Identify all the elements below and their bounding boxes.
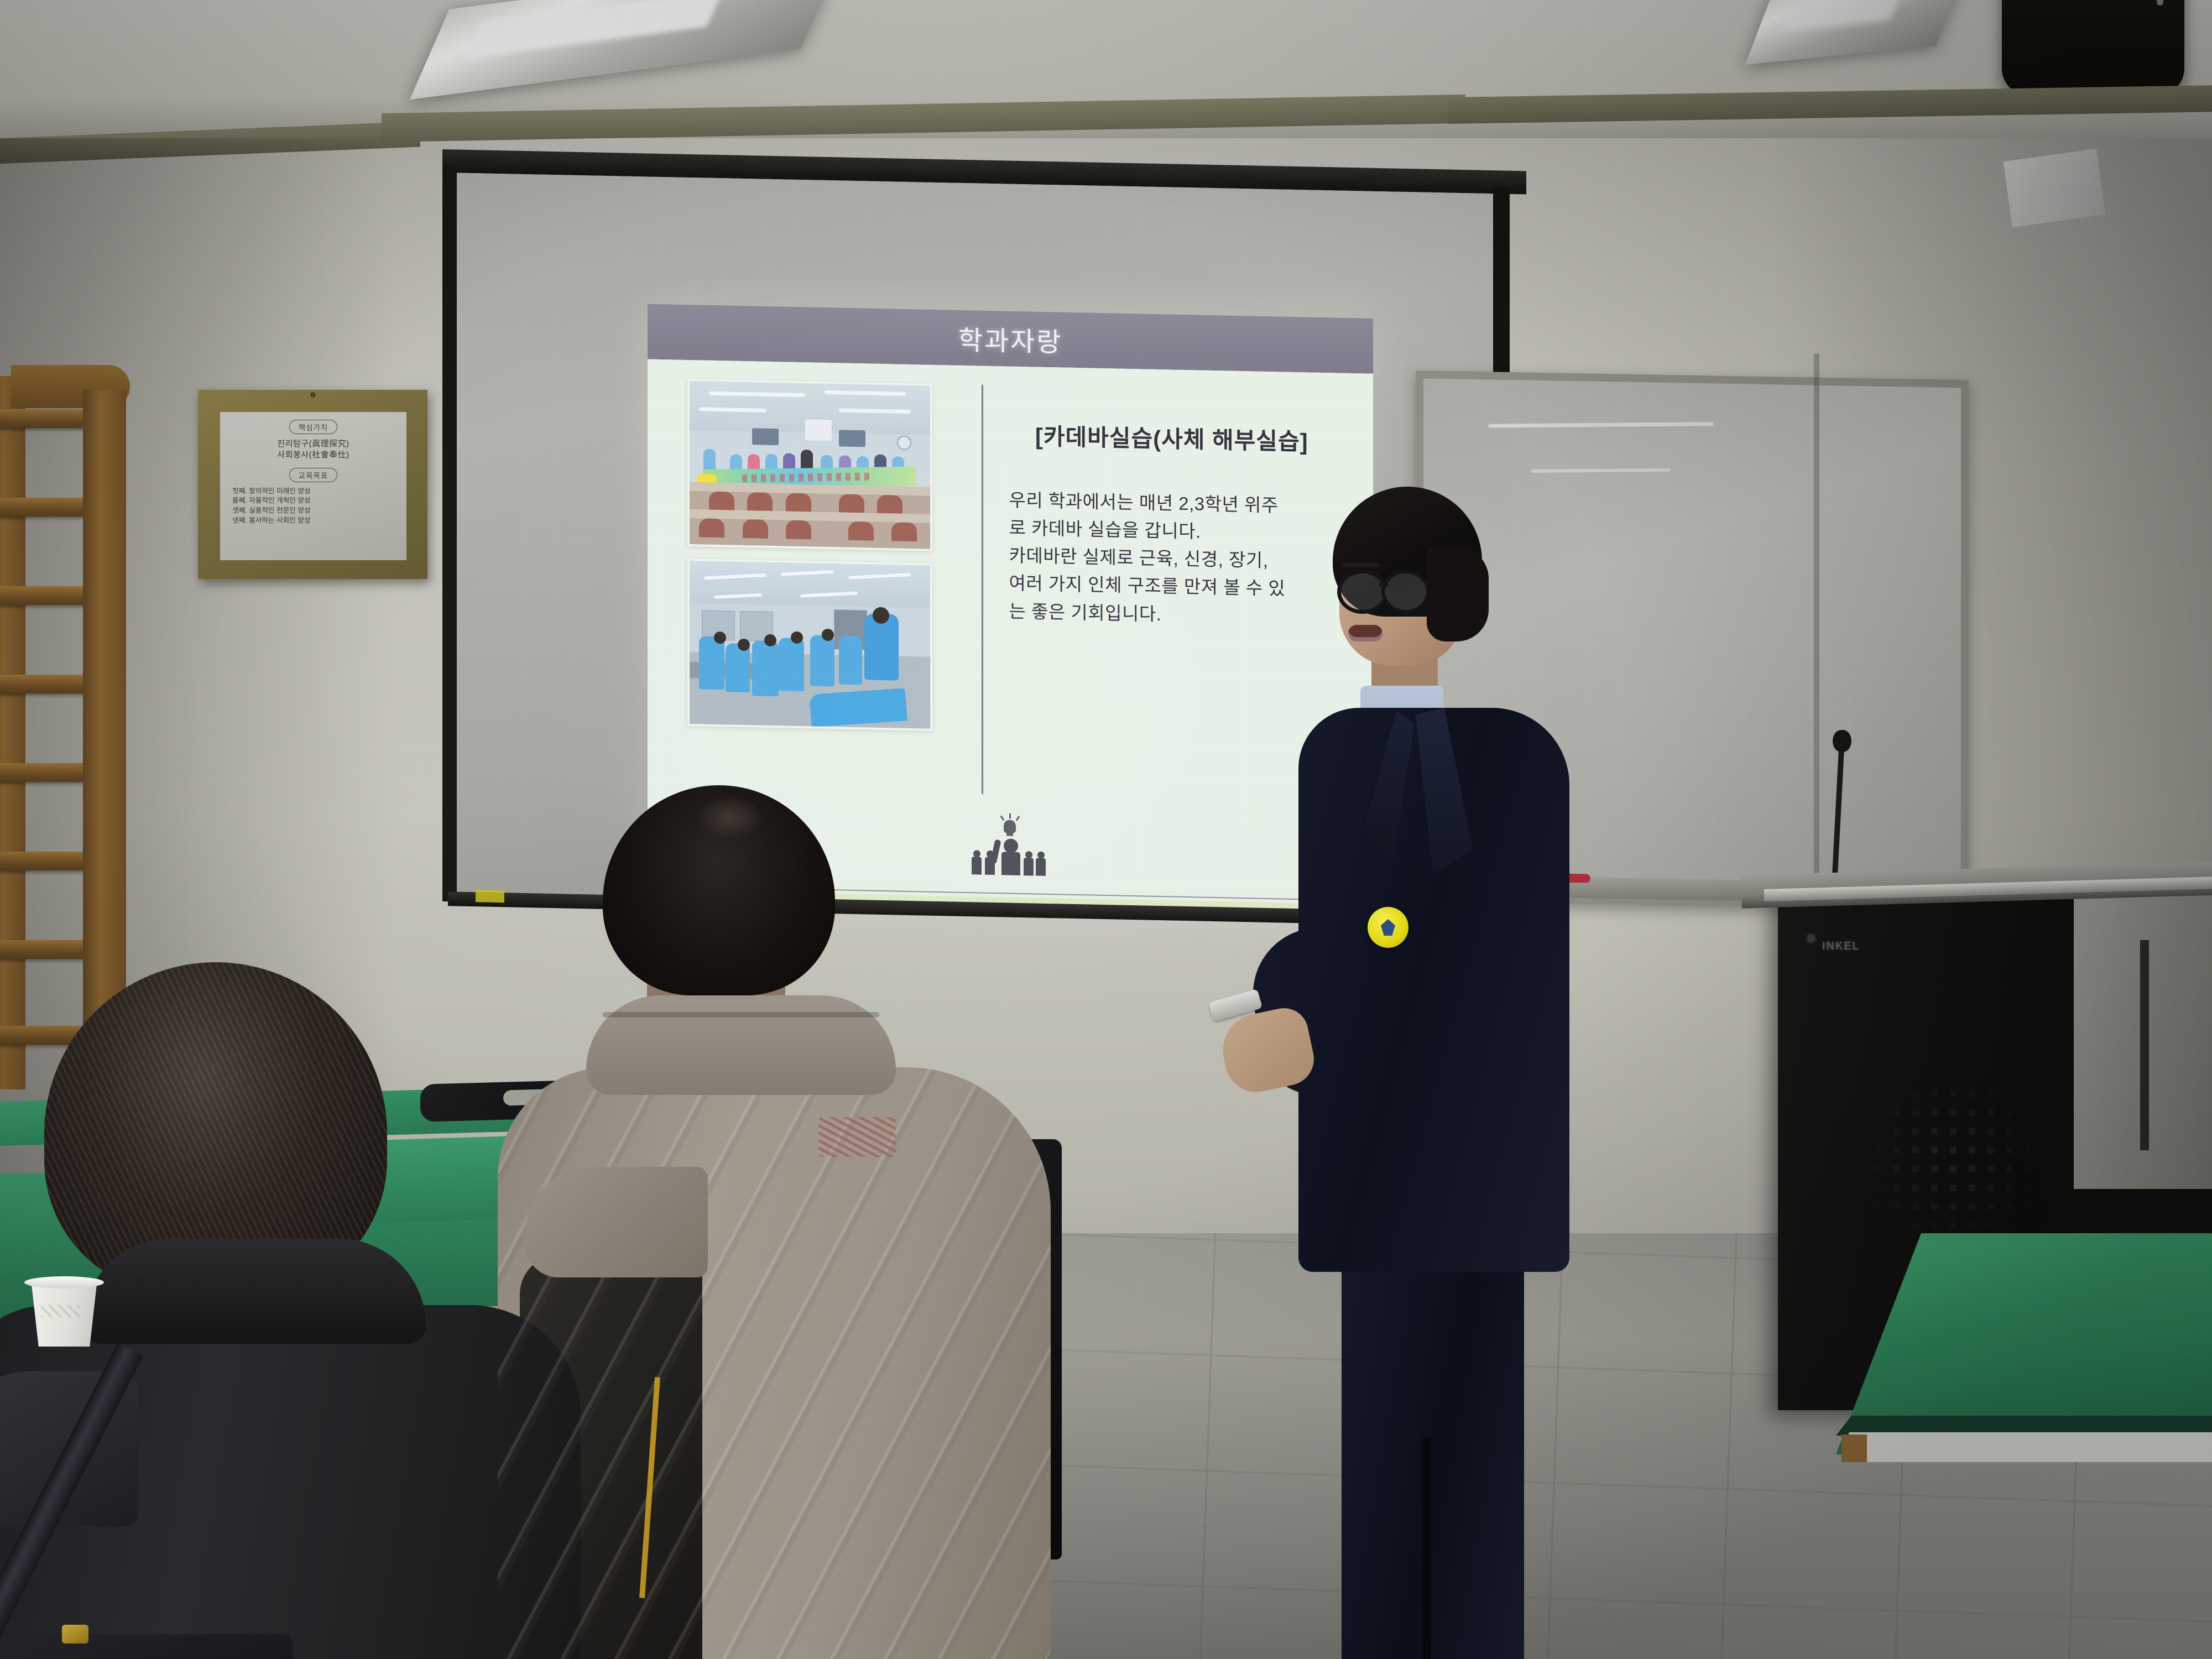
screen-border-left bbox=[442, 166, 457, 902]
audience1-bag-flap bbox=[17, 1634, 293, 1659]
plaque-screw bbox=[310, 392, 316, 398]
slide-body-line-5: 는 좋은 기회입니다. bbox=[1009, 597, 1334, 632]
presenter-yellow-ribbon-badge bbox=[1368, 907, 1408, 948]
plaque-value-1: 진리탐구(眞理探究) bbox=[277, 439, 349, 450]
plaque-goal-2: 둘째. 자율적인 개척인 양성 bbox=[232, 496, 310, 506]
podium-brand-label: INKEL bbox=[1822, 940, 1860, 953]
paper-cup-rim bbox=[24, 1276, 104, 1288]
ceiling-speaker-icon bbox=[2002, 0, 2184, 95]
audience2-jacket-logo bbox=[818, 1117, 896, 1157]
podium-side-gap bbox=[2140, 940, 2149, 1150]
presenter-mouth bbox=[1348, 625, 1383, 641]
presenter-leg-gap bbox=[1422, 1438, 1431, 1659]
audience2-hair-thinning bbox=[697, 795, 763, 839]
slide-photo-group-lecture-hall bbox=[687, 379, 932, 551]
wall-plaque: 핵심가치 진리탐구(眞理探究) 사회봉사(社會奉仕) 교육목표 첫째. 창의적인… bbox=[198, 390, 427, 579]
audience1-bag-buckle bbox=[62, 1625, 88, 1644]
audience2-quilting-pattern bbox=[498, 1067, 1051, 1659]
audience2-shoulder bbox=[525, 1167, 708, 1277]
green-table-front-right-base bbox=[1841, 1432, 2212, 1462]
plaque-goal-3: 셋째. 실용적인 전문인 양성 bbox=[232, 506, 310, 516]
paper-cup-pattern bbox=[41, 1305, 80, 1317]
slide-heading: [카데바실습(사체 해부실습] bbox=[1009, 418, 1334, 458]
slide-photo-anatomy-lab bbox=[687, 559, 932, 731]
plaque-badge-core-values: 핵심가치 bbox=[289, 420, 338, 434]
plaque-value-2: 사회봉사(社會奉仕) bbox=[277, 450, 349, 461]
audience2-collar bbox=[586, 995, 896, 1095]
audience2-collar-seam bbox=[603, 1012, 879, 1018]
glasses-bridge bbox=[1379, 583, 1388, 586]
glasses-lens-left-icon bbox=[1337, 570, 1388, 614]
podium-power-led bbox=[1807, 935, 1815, 942]
audience1-collar bbox=[83, 1239, 426, 1344]
presenter-eyebrow bbox=[1342, 563, 1379, 567]
plaque-badge-goals: 교육목표 bbox=[289, 468, 338, 482]
presenter-trousers bbox=[1342, 1255, 1524, 1659]
slide-title: 학과자랑 bbox=[958, 319, 1063, 359]
presenter-hair-side bbox=[1427, 547, 1489, 641]
presenter bbox=[1288, 487, 1576, 1582]
plaque-goal-1: 첫째. 창의적인 미래인 양성 bbox=[232, 487, 310, 497]
green-table-wood-corner bbox=[1841, 1434, 1867, 1462]
audience-member-puffer-jacket bbox=[465, 780, 1051, 1659]
gooseneck-microphone[interactable] bbox=[1825, 730, 1858, 890]
plaque-goal-4: 넷째. 봉사하는 사회인 양성 bbox=[232, 516, 310, 526]
wall-tape-residue bbox=[2003, 149, 2105, 227]
classroom-presentation-scene: 핵심가치 진리탐구(眞理探究) 사회봉사(社會奉仕) 교육목표 첫째. 창의적인… bbox=[0, 0, 2212, 1659]
glasses-lens-right-icon bbox=[1381, 570, 1430, 614]
